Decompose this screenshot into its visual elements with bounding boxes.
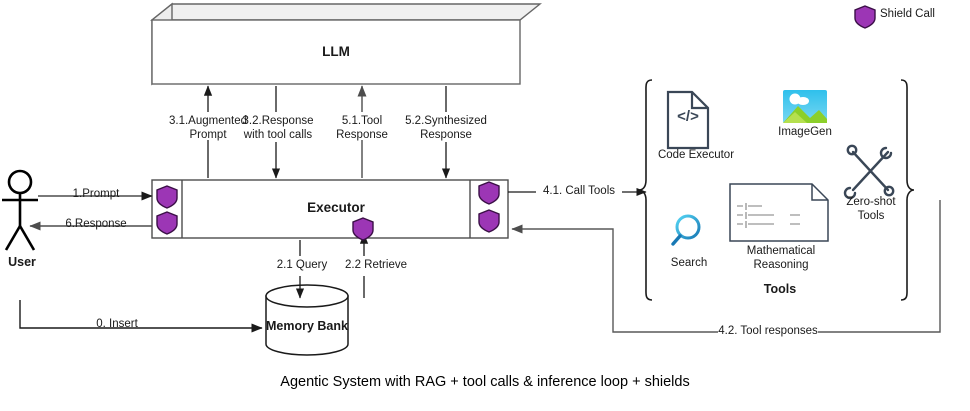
tools-group-label: Tools [735,283,825,297]
shield-executor-in-1 [157,186,177,208]
crossed-wrenches-icon [845,146,893,198]
diagram-canvas: LLM Executor Memory Bank User Tools Shie… [0,0,970,411]
flow-label-response-user: 6.Response [44,218,148,232]
flow-label-insert: 0. Insert [62,318,172,332]
flow-label-retrieve: 2.2 Retrieve [330,259,422,273]
flow-label-synthesized-response-line1: 5.2.Synthesized [388,115,504,129]
tool-label-imagegen: ImageGen [770,126,840,140]
flow-label-synthesized-response-line2: Response [388,129,504,143]
image-picture-icon [783,90,827,123]
shield-executor-out-1 [479,182,499,204]
tools-group-brace-right [901,80,914,300]
user-label: User [0,256,44,270]
code-glyph: </> [668,110,708,124]
shield-legend-label: Shield Call [880,8,960,22]
tool-label-zero-shot-tools: Zero-shot Tools [841,196,901,223]
flow-label-prompt: 1.Prompt [48,188,144,202]
tool-label-mathematical-reasoning: Mathematical Reasoning [734,245,828,272]
memory-bank-label: Memory Bank [262,320,352,334]
user-node [2,171,38,250]
shield-executor-memory [353,218,373,240]
executor-label: Executor [286,201,386,215]
shield-legend-icon [855,6,875,28]
tools-group-brace-left [639,80,652,300]
shield-executor-out-2 [479,210,499,232]
tool-label-code-executor: Code Executor [648,149,744,163]
flow-label-call-tools: 4.1. Call Tools [531,185,627,199]
shield-executor-in-2 [157,212,177,234]
math-formula-document-icon [730,184,828,241]
flow-label-tool-responses: 4.2. Tool responses [716,325,820,339]
llm-label: LLM [292,45,380,59]
magnifier-icon [673,216,699,244]
diagram-vector-layer [0,0,970,411]
tool-label-search: Search [660,257,718,271]
diagram-caption: Agentic System with RAG + tool calls & i… [0,374,970,390]
